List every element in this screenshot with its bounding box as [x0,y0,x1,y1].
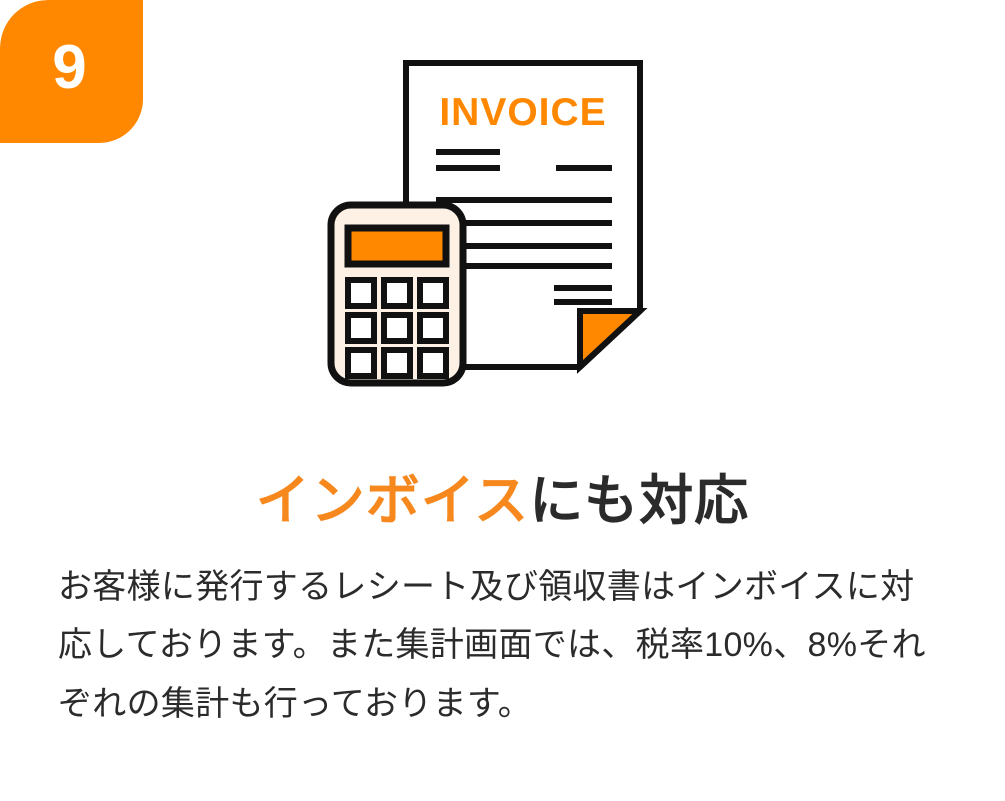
invoice-folded-corner [580,311,640,367]
invoice-title-text: INVOICE [439,91,606,134]
calculator-display [348,228,446,264]
calculator-key [420,315,446,341]
feature-card: 9 INVOICE [0,0,1005,801]
card-body-text: お客様に発行するレシート及び領収書はインボイスに対応しております。また集計画面で… [58,558,948,733]
calculator-icon [331,205,463,383]
card-heading-accent: インボイス [256,471,529,531]
calculator-key [384,315,410,341]
card-heading: インボイスにも対応 [0,469,1005,534]
calculator-key [348,350,374,376]
calculator-key [384,280,410,306]
calculator-key [348,315,374,341]
calculator-key [348,280,374,306]
illustration-container: INVOICE [0,0,1005,420]
calculator-key [420,280,446,306]
calculator-key [384,350,410,376]
calculator-key [420,350,446,376]
card-heading-rest: にも対応 [529,471,749,531]
invoice-and-calculator-illustration: INVOICE [0,0,1005,420]
